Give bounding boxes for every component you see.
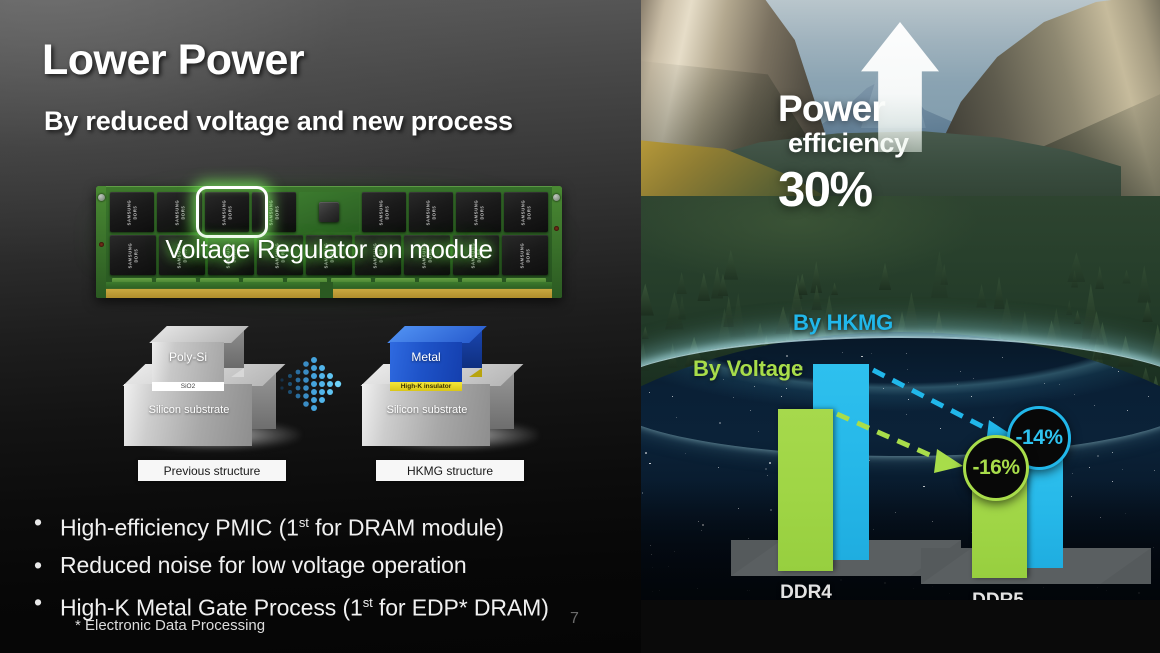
hkmg-structure-figure: Silicon substrate High-K insulator Metal… xyxy=(358,312,538,462)
bullet-list: •High-efficiency PMIC (1st for DRAM modu… xyxy=(34,506,634,628)
tree xyxy=(676,272,687,294)
ordinal-suffix: st xyxy=(363,595,373,610)
tree xyxy=(831,282,838,295)
category-label-ddr5: DDR5 xyxy=(933,590,1063,600)
dram-chip-label: SAMSUNGDDR5 xyxy=(268,199,279,225)
dram-chip-label: SAMSUNGDDR5 xyxy=(520,199,531,225)
previous-structure-figure: Silicon substrate SiO2 Poly-Si Previous … xyxy=(120,312,300,462)
dram-chip-label: SAMSUNGDDR5 xyxy=(379,199,390,225)
dram-chip: SAMSUNGDDR5 xyxy=(110,192,154,232)
dram-chip: SAMSUNGDDR5 xyxy=(252,192,296,232)
legend-by-hkmg: By HKMG xyxy=(793,310,893,336)
tree xyxy=(1122,270,1130,284)
dram-chip: SAMSUNGDDR5 xyxy=(504,192,548,232)
ordinal-suffix: st xyxy=(299,515,309,530)
hkmg-structure-caption: HKMG structure xyxy=(376,460,524,481)
tree xyxy=(879,263,891,290)
pmic-chip xyxy=(319,202,339,222)
power-comparison-chart: By Voltage By HKMG DDR4 DDR5 -14% -16% xyxy=(641,300,1160,600)
dram-chip-label: SAMSUNGDDR5 xyxy=(426,199,437,225)
hero-line-percent: 30% xyxy=(778,162,872,218)
insulator-label: High-K insulator xyxy=(390,382,462,391)
module-caption: Voltage Regulator on module xyxy=(96,234,562,265)
transition-arrow-icon xyxy=(278,354,350,420)
badge-voltage-delta: -16% xyxy=(963,435,1029,501)
tree xyxy=(697,273,710,302)
pmic-slot xyxy=(299,192,359,232)
tree xyxy=(1137,265,1151,302)
gate-label: Poly-Si xyxy=(152,350,224,364)
legend-by-voltage: By Voltage xyxy=(693,356,803,382)
dram-chip: SAMSUNGDDR5 xyxy=(205,192,249,232)
right-visual-panel: Power efficiency 30% By Voltage By HKMG … xyxy=(641,0,1160,600)
left-content-panel: Lower Power By reduced voltage and new p… xyxy=(0,0,641,653)
transistor-structure-comparison: Silicon substrate SiO2 Poly-Si Previous … xyxy=(120,312,540,488)
bullet-text: Reduced noise for low voltage operation xyxy=(60,549,467,582)
page-number: 7 xyxy=(570,610,579,628)
dram-chip-label: SAMSUNGDDR5 xyxy=(127,199,138,225)
dram-chip: SAMSUNGDDR5 xyxy=(157,192,201,232)
bullet-marker: • xyxy=(34,549,60,582)
dram-chip-label: SAMSUNGDDR5 xyxy=(473,199,484,225)
bar-ddr4-voltage xyxy=(778,409,833,571)
dram-chip: SAMSUNGDDR5 xyxy=(362,192,406,232)
bullet-marker: • xyxy=(34,586,60,619)
bullet-text: High-efficiency PMIC (1st for DRAM modul… xyxy=(60,506,504,545)
via-icon xyxy=(554,226,559,231)
dram-chip-label: SAMSUNGDDR5 xyxy=(174,199,185,225)
insulator-label: SiO2 xyxy=(152,382,224,391)
slide-root: Lower Power By reduced voltage and new p… xyxy=(0,0,1160,653)
tree xyxy=(1095,266,1104,289)
tree xyxy=(1067,252,1085,282)
footnote: * Electronic Data Processing xyxy=(75,617,265,634)
dimm-gold-connector xyxy=(106,282,552,298)
tree xyxy=(723,250,738,280)
dram-chip: SAMSUNGDDR5 xyxy=(409,192,453,232)
substrate-label: Silicon substrate xyxy=(364,404,490,416)
dram-chip: SAMSUNGDDR5 xyxy=(456,192,500,232)
page-subtitle: By reduced voltage and new process xyxy=(44,106,513,137)
chip-row-top: SAMSUNGDDR5SAMSUNGDDR5SAMSUNGDDR5SAMSUNG… xyxy=(110,192,548,232)
mount-hole-icon xyxy=(553,194,560,201)
previous-structure-caption: Previous structure xyxy=(138,460,286,481)
mount-hole-icon xyxy=(98,194,105,201)
page-title: Lower Power xyxy=(42,36,304,85)
category-label-ddr4: DDR4 xyxy=(741,582,871,600)
dram-chip-label: SAMSUNGDDR5 xyxy=(221,199,232,225)
substrate-label: Silicon substrate xyxy=(126,404,252,416)
hero-line-power: Power xyxy=(778,88,885,130)
list-item: •Reduced noise for low voltage operation xyxy=(34,549,634,582)
bullet-marker: • xyxy=(34,506,60,539)
list-item: •High-efficiency PMIC (1st for DRAM modu… xyxy=(34,506,634,545)
gate-label: Metal xyxy=(390,350,462,364)
